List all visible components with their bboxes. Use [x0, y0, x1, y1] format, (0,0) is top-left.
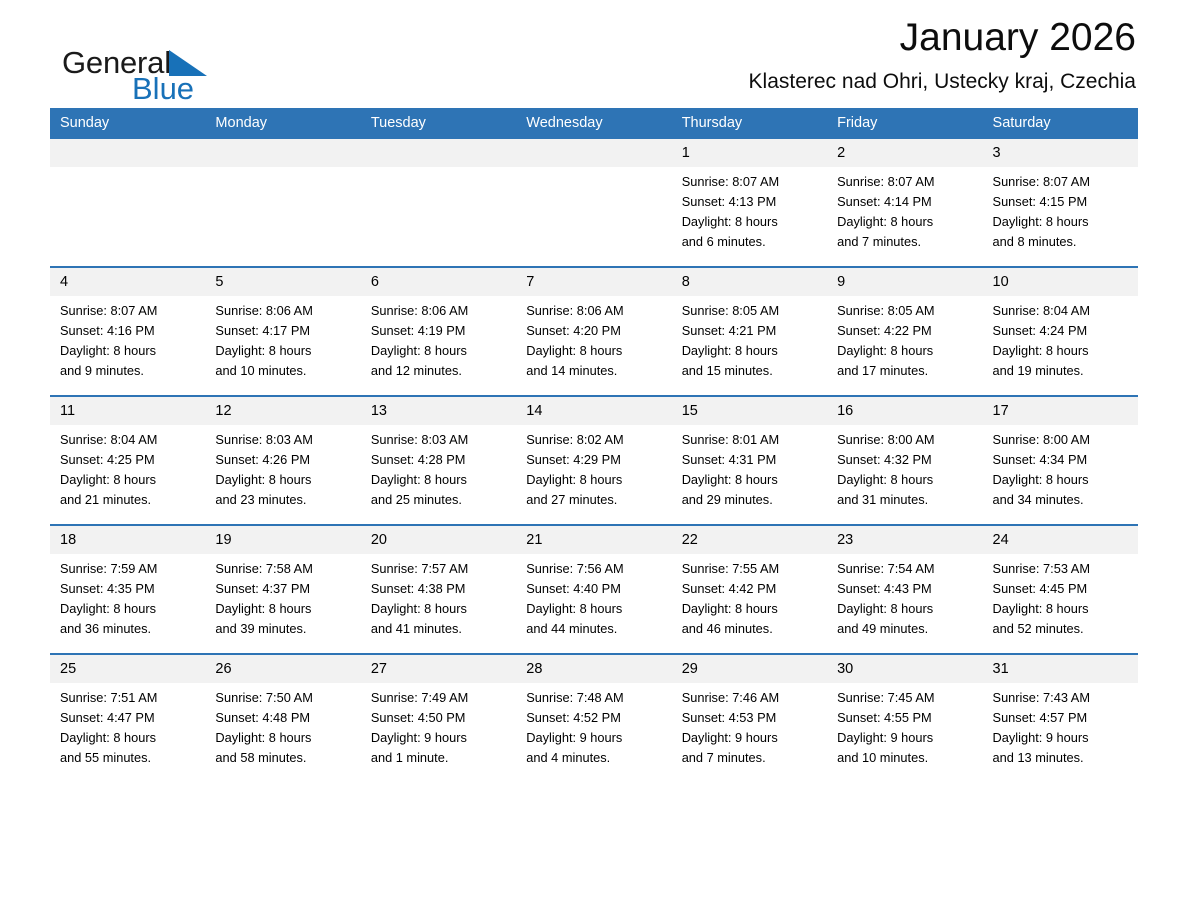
day-cell[interactable]: 27Sunrise: 7:49 AMSunset: 4:50 PMDayligh…	[361, 654, 516, 773]
sunset-line: Sunset: 4:40 PM	[526, 579, 663, 599]
day-number: 15	[672, 397, 827, 425]
day-number: 23	[827, 526, 982, 554]
day-sun-info: Sunrise: 7:59 AMSunset: 4:35 PMDaylight:…	[50, 554, 205, 639]
sunset-line: Sunset: 4:57 PM	[993, 708, 1130, 728]
sunset-line: Sunset: 4:13 PM	[682, 192, 819, 212]
day-cell[interactable]: 19Sunrise: 7:58 AMSunset: 4:37 PMDayligh…	[205, 525, 360, 644]
daylight-line-1: Daylight: 8 hours	[526, 599, 663, 619]
day-sun-info: Sunrise: 8:06 AMSunset: 4:19 PMDaylight:…	[361, 296, 516, 381]
daylight-line-2: and 25 minutes.	[371, 490, 508, 510]
day-cell[interactable]: 30Sunrise: 7:45 AMSunset: 4:55 PMDayligh…	[827, 654, 982, 773]
day-cell[interactable]: 23Sunrise: 7:54 AMSunset: 4:43 PMDayligh…	[827, 525, 982, 644]
sunset-line: Sunset: 4:26 PM	[215, 450, 352, 470]
daylight-line-2: and 15 minutes.	[682, 361, 819, 381]
daylight-line-2: and 46 minutes.	[682, 619, 819, 639]
daylight-line-2: and 21 minutes.	[60, 490, 197, 510]
day-cell[interactable]: 25Sunrise: 7:51 AMSunset: 4:47 PMDayligh…	[50, 654, 205, 773]
daylight-line-1: Daylight: 8 hours	[993, 212, 1130, 232]
sunrise-line: Sunrise: 8:00 AM	[993, 430, 1130, 450]
daylight-line-1: Daylight: 8 hours	[215, 599, 352, 619]
daylight-line-1: Daylight: 8 hours	[371, 470, 508, 490]
calendar-week-row: 25Sunrise: 7:51 AMSunset: 4:47 PMDayligh…	[50, 654, 1138, 773]
sunrise-line: Sunrise: 8:05 AM	[837, 301, 974, 321]
sunrise-line: Sunrise: 8:07 AM	[60, 301, 197, 321]
day-sun-info: Sunrise: 8:03 AMSunset: 4:28 PMDaylight:…	[361, 425, 516, 510]
daylight-line-2: and 39 minutes.	[215, 619, 352, 639]
sunrise-line: Sunrise: 8:07 AM	[993, 172, 1130, 192]
daylight-line-1: Daylight: 8 hours	[215, 470, 352, 490]
sunrise-line: Sunrise: 7:48 AM	[526, 688, 663, 708]
day-cell[interactable]: 11Sunrise: 8:04 AMSunset: 4:25 PMDayligh…	[50, 396, 205, 515]
sunset-line: Sunset: 4:14 PM	[837, 192, 974, 212]
sunset-line: Sunset: 4:52 PM	[526, 708, 663, 728]
daylight-line-1: Daylight: 9 hours	[837, 728, 974, 748]
sunset-line: Sunset: 4:28 PM	[371, 450, 508, 470]
sunset-line: Sunset: 4:43 PM	[837, 579, 974, 599]
sunrise-line: Sunrise: 7:56 AM	[526, 559, 663, 579]
day-sun-info: Sunrise: 8:06 AMSunset: 4:20 PMDaylight:…	[516, 296, 671, 381]
day-number: 6	[361, 268, 516, 296]
column-header-friday: Friday	[827, 108, 982, 139]
sunrise-line: Sunrise: 8:02 AM	[526, 430, 663, 450]
sunrise-line: Sunrise: 7:55 AM	[682, 559, 819, 579]
daylight-line-1: Daylight: 9 hours	[526, 728, 663, 748]
daylight-line-1: Daylight: 8 hours	[682, 212, 819, 232]
day-number: 17	[983, 397, 1138, 425]
daylight-line-2: and 14 minutes.	[526, 361, 663, 381]
day-sun-info: Sunrise: 7:54 AMSunset: 4:43 PMDaylight:…	[827, 554, 982, 639]
day-number: 14	[516, 397, 671, 425]
daylight-line-2: and 34 minutes.	[993, 490, 1130, 510]
column-header-thursday: Thursday	[672, 108, 827, 139]
sunrise-line: Sunrise: 8:03 AM	[215, 430, 352, 450]
sunset-line: Sunset: 4:22 PM	[837, 321, 974, 341]
day-number: 30	[827, 655, 982, 683]
sunrise-line: Sunrise: 7:43 AM	[993, 688, 1130, 708]
daylight-line-2: and 6 minutes.	[682, 232, 819, 252]
sunset-line: Sunset: 4:24 PM	[993, 321, 1130, 341]
daylight-line-2: and 4 minutes.	[526, 748, 663, 768]
daylight-line-1: Daylight: 8 hours	[682, 470, 819, 490]
day-sun-info: Sunrise: 8:04 AMSunset: 4:25 PMDaylight:…	[50, 425, 205, 510]
sunset-line: Sunset: 4:34 PM	[993, 450, 1130, 470]
sunset-line: Sunset: 4:35 PM	[60, 579, 197, 599]
logo-blue-text: Blue	[132, 74, 322, 104]
page-header: General Blue January 2026 Klasterec nad …	[50, 0, 1138, 108]
sunrise-line: Sunrise: 8:05 AM	[682, 301, 819, 321]
day-sun-info: Sunrise: 8:04 AMSunset: 4:24 PMDaylight:…	[983, 296, 1138, 381]
daylight-line-1: Daylight: 9 hours	[993, 728, 1130, 748]
sunrise-line: Sunrise: 7:57 AM	[371, 559, 508, 579]
day-cell[interactable]: 2Sunrise: 8:07 AMSunset: 4:14 PMDaylight…	[827, 139, 982, 257]
day-cell[interactable]: 8Sunrise: 8:05 AMSunset: 4:21 PMDaylight…	[672, 267, 827, 386]
daylight-line-2: and 44 minutes.	[526, 619, 663, 639]
day-cell[interactable]: 14Sunrise: 8:02 AMSunset: 4:29 PMDayligh…	[516, 396, 671, 515]
day-sun-info: Sunrise: 8:05 AMSunset: 4:21 PMDaylight:…	[672, 296, 827, 381]
day-sun-info: Sunrise: 8:06 AMSunset: 4:17 PMDaylight:…	[205, 296, 360, 381]
sunrise-line: Sunrise: 8:06 AM	[526, 301, 663, 321]
day-cell[interactable]: 6Sunrise: 8:06 AMSunset: 4:19 PMDaylight…	[361, 267, 516, 386]
sunrise-line: Sunrise: 8:00 AM	[837, 430, 974, 450]
day-cell[interactable]: 28Sunrise: 7:48 AMSunset: 4:52 PMDayligh…	[516, 654, 671, 773]
day-cell[interactable]: 29Sunrise: 7:46 AMSunset: 4:53 PMDayligh…	[672, 654, 827, 773]
daylight-line-2: and 58 minutes.	[215, 748, 352, 768]
day-sun-info: Sunrise: 8:05 AMSunset: 4:22 PMDaylight:…	[827, 296, 982, 381]
day-cell[interactable]: 17Sunrise: 8:00 AMSunset: 4:34 PMDayligh…	[983, 396, 1138, 515]
calendar-week-row: 11Sunrise: 8:04 AMSunset: 4:25 PMDayligh…	[50, 396, 1138, 515]
day-cell[interactable]: 18Sunrise: 7:59 AMSunset: 4:35 PMDayligh…	[50, 525, 205, 644]
daylight-line-1: Daylight: 8 hours	[993, 599, 1130, 619]
sunset-line: Sunset: 4:32 PM	[837, 450, 974, 470]
sunrise-line: Sunrise: 7:46 AM	[682, 688, 819, 708]
day-number: 12	[205, 397, 360, 425]
daylight-line-1: Daylight: 8 hours	[682, 341, 819, 361]
sunrise-line: Sunrise: 7:58 AM	[215, 559, 352, 579]
sunset-line: Sunset: 4:21 PM	[682, 321, 819, 341]
day-cell[interactable]: 9Sunrise: 8:05 AMSunset: 4:22 PMDaylight…	[827, 267, 982, 386]
daylight-line-2: and 19 minutes.	[993, 361, 1130, 381]
sunrise-sunset-calendar: Sunday Monday Tuesday Wednesday Thursday…	[50, 108, 1138, 773]
day-sun-info: Sunrise: 7:55 AMSunset: 4:42 PMDaylight:…	[672, 554, 827, 639]
daylight-line-2: and 9 minutes.	[60, 361, 197, 381]
day-number: 18	[50, 526, 205, 554]
sunrise-line: Sunrise: 7:45 AM	[837, 688, 974, 708]
day-sun-info: Sunrise: 8:03 AMSunset: 4:26 PMDaylight:…	[205, 425, 360, 510]
day-number: 1	[672, 139, 827, 167]
day-number: 3	[983, 139, 1138, 167]
day-sun-info: Sunrise: 8:02 AMSunset: 4:29 PMDaylight:…	[516, 425, 671, 510]
day-number: 26	[205, 655, 360, 683]
calendar-week-row: 4Sunrise: 8:07 AMSunset: 4:16 PMDaylight…	[50, 267, 1138, 386]
daylight-line-1: Daylight: 8 hours	[371, 341, 508, 361]
day-sun-info: Sunrise: 8:07 AMSunset: 4:16 PMDaylight:…	[50, 296, 205, 381]
sunset-line: Sunset: 4:20 PM	[526, 321, 663, 341]
daylight-line-1: Daylight: 9 hours	[371, 728, 508, 748]
daylight-line-2: and 27 minutes.	[526, 490, 663, 510]
sunset-line: Sunset: 4:48 PM	[215, 708, 352, 728]
day-cell-empty	[516, 139, 671, 257]
day-cell[interactable]: 21Sunrise: 7:56 AMSunset: 4:40 PMDayligh…	[516, 525, 671, 644]
day-cell[interactable]: 5Sunrise: 8:06 AMSunset: 4:17 PMDaylight…	[205, 267, 360, 386]
sunset-line: Sunset: 4:29 PM	[526, 450, 663, 470]
day-cell[interactable]: 12Sunrise: 8:03 AMSunset: 4:26 PMDayligh…	[205, 396, 360, 515]
sunrise-line: Sunrise: 8:07 AM	[682, 172, 819, 192]
week-spacer-row	[50, 386, 1138, 396]
day-sun-info: Sunrise: 8:07 AMSunset: 4:14 PMDaylight:…	[827, 167, 982, 252]
daylight-line-2: and 36 minutes.	[60, 619, 197, 639]
daylight-line-1: Daylight: 8 hours	[526, 470, 663, 490]
day-sun-info: Sunrise: 7:43 AMSunset: 4:57 PMDaylight:…	[983, 683, 1138, 768]
day-cell-empty	[361, 139, 516, 257]
generalblue-logo: General Blue	[62, 46, 322, 124]
day-sun-info: Sunrise: 8:00 AMSunset: 4:32 PMDaylight:…	[827, 425, 982, 510]
day-number: 11	[50, 397, 205, 425]
day-number: 20	[361, 526, 516, 554]
sunset-line: Sunset: 4:55 PM	[837, 708, 974, 728]
day-sun-info: Sunrise: 7:49 AMSunset: 4:50 PMDaylight:…	[361, 683, 516, 768]
daylight-line-1: Daylight: 8 hours	[993, 470, 1130, 490]
sunrise-line: Sunrise: 8:03 AM	[371, 430, 508, 450]
daylight-line-2: and 31 minutes.	[837, 490, 974, 510]
daylight-line-1: Daylight: 8 hours	[215, 341, 352, 361]
sunrise-line: Sunrise: 8:04 AM	[60, 430, 197, 450]
day-cell[interactable]: 16Sunrise: 8:00 AMSunset: 4:32 PMDayligh…	[827, 396, 982, 515]
daylight-line-1: Daylight: 8 hours	[993, 341, 1130, 361]
day-number: 2	[827, 139, 982, 167]
sunset-line: Sunset: 4:19 PM	[371, 321, 508, 341]
day-cell[interactable]: 20Sunrise: 7:57 AMSunset: 4:38 PMDayligh…	[361, 525, 516, 644]
daylight-line-1: Daylight: 8 hours	[60, 728, 197, 748]
day-cell[interactable]: 26Sunrise: 7:50 AMSunset: 4:48 PMDayligh…	[205, 654, 360, 773]
column-header-tuesday: Tuesday	[361, 108, 516, 139]
calendar-body: 1Sunrise: 8:07 AMSunset: 4:13 PMDaylight…	[50, 139, 1138, 773]
day-cell[interactable]: 13Sunrise: 8:03 AMSunset: 4:28 PMDayligh…	[361, 396, 516, 515]
daylight-line-1: Daylight: 8 hours	[837, 599, 974, 619]
day-number: 10	[983, 268, 1138, 296]
sunset-line: Sunset: 4:17 PM	[215, 321, 352, 341]
daylight-line-2: and 41 minutes.	[371, 619, 508, 639]
day-number	[361, 139, 516, 167]
day-number	[205, 139, 360, 167]
day-cell[interactable]: 7Sunrise: 8:06 AMSunset: 4:20 PMDaylight…	[516, 267, 671, 386]
week-spacer	[50, 386, 1138, 396]
daylight-line-2: and 8 minutes.	[993, 232, 1130, 252]
day-number: 5	[205, 268, 360, 296]
day-sun-info: Sunrise: 7:48 AMSunset: 4:52 PMDaylight:…	[516, 683, 671, 768]
daylight-line-2: and 13 minutes.	[993, 748, 1130, 768]
day-cell-empty	[205, 139, 360, 257]
day-number: 28	[516, 655, 671, 683]
day-number: 13	[361, 397, 516, 425]
day-sun-info: Sunrise: 7:53 AMSunset: 4:45 PMDaylight:…	[983, 554, 1138, 639]
sunrise-line: Sunrise: 8:01 AM	[682, 430, 819, 450]
day-number: 21	[516, 526, 671, 554]
day-cell[interactable]: 1Sunrise: 8:07 AMSunset: 4:13 PMDaylight…	[672, 139, 827, 257]
day-number	[516, 139, 671, 167]
sunset-line: Sunset: 4:37 PM	[215, 579, 352, 599]
sunrise-line: Sunrise: 7:53 AM	[993, 559, 1130, 579]
column-header-saturday: Saturday	[983, 108, 1138, 139]
day-cell-empty	[50, 139, 205, 257]
daylight-line-1: Daylight: 8 hours	[60, 341, 197, 361]
day-number: 27	[361, 655, 516, 683]
sunrise-line: Sunrise: 8:06 AM	[371, 301, 508, 321]
day-number: 25	[50, 655, 205, 683]
sunset-line: Sunset: 4:53 PM	[682, 708, 819, 728]
day-cell[interactable]: 4Sunrise: 8:07 AMSunset: 4:16 PMDaylight…	[50, 267, 205, 386]
column-header-wednesday: Wednesday	[516, 108, 671, 139]
daylight-line-1: Daylight: 8 hours	[60, 470, 197, 490]
day-number: 29	[672, 655, 827, 683]
day-sun-info: Sunrise: 8:01 AMSunset: 4:31 PMDaylight:…	[672, 425, 827, 510]
day-number: 7	[516, 268, 671, 296]
week-spacer-row	[50, 257, 1138, 267]
day-number: 24	[983, 526, 1138, 554]
daylight-line-2: and 17 minutes.	[837, 361, 974, 381]
sunset-line: Sunset: 4:38 PM	[371, 579, 508, 599]
sunset-line: Sunset: 4:15 PM	[993, 192, 1130, 212]
day-sun-info: Sunrise: 7:46 AMSunset: 4:53 PMDaylight:…	[672, 683, 827, 768]
daylight-line-2: and 7 minutes.	[682, 748, 819, 768]
sunset-line: Sunset: 4:16 PM	[60, 321, 197, 341]
calendar-week-row: 1Sunrise: 8:07 AMSunset: 4:13 PMDaylight…	[50, 139, 1138, 257]
daylight-line-2: and 7 minutes.	[837, 232, 974, 252]
sunset-line: Sunset: 4:31 PM	[682, 450, 819, 470]
day-number: 16	[827, 397, 982, 425]
sunset-line: Sunset: 4:45 PM	[993, 579, 1130, 599]
day-sun-info: Sunrise: 7:51 AMSunset: 4:47 PMDaylight:…	[50, 683, 205, 768]
sunrise-line: Sunrise: 8:07 AM	[837, 172, 974, 192]
daylight-line-2: and 1 minute.	[371, 748, 508, 768]
day-cell[interactable]: 15Sunrise: 8:01 AMSunset: 4:31 PMDayligh…	[672, 396, 827, 515]
daylight-line-1: Daylight: 8 hours	[60, 599, 197, 619]
day-number: 8	[672, 268, 827, 296]
day-cell[interactable]: 3Sunrise: 8:07 AMSunset: 4:15 PMDaylight…	[983, 139, 1138, 257]
daylight-line-1: Daylight: 8 hours	[371, 599, 508, 619]
day-number	[50, 139, 205, 167]
daylight-line-2: and 23 minutes.	[215, 490, 352, 510]
week-spacer	[50, 644, 1138, 654]
day-number: 19	[205, 526, 360, 554]
sunrise-line: Sunrise: 7:50 AM	[215, 688, 352, 708]
sunrise-line: Sunrise: 7:59 AM	[60, 559, 197, 579]
sunset-line: Sunset: 4:25 PM	[60, 450, 197, 470]
day-number: 4	[50, 268, 205, 296]
daylight-line-1: Daylight: 8 hours	[837, 341, 974, 361]
daylight-line-2: and 49 minutes.	[837, 619, 974, 639]
sunrise-line: Sunrise: 7:49 AM	[371, 688, 508, 708]
day-cell[interactable]: 31Sunrise: 7:43 AMSunset: 4:57 PMDayligh…	[983, 654, 1138, 773]
calendar-page: General Blue January 2026 Klasterec nad …	[0, 0, 1188, 918]
sunset-line: Sunset: 4:50 PM	[371, 708, 508, 728]
daylight-line-2: and 52 minutes.	[993, 619, 1130, 639]
day-cell[interactable]: 24Sunrise: 7:53 AMSunset: 4:45 PMDayligh…	[983, 525, 1138, 644]
sunset-line: Sunset: 4:47 PM	[60, 708, 197, 728]
week-spacer	[50, 515, 1138, 525]
sunset-line: Sunset: 4:42 PM	[682, 579, 819, 599]
day-number: 22	[672, 526, 827, 554]
day-sun-info: Sunrise: 7:50 AMSunset: 4:48 PMDaylight:…	[205, 683, 360, 768]
sunrise-line: Sunrise: 8:06 AM	[215, 301, 352, 321]
day-sun-info: Sunrise: 7:57 AMSunset: 4:38 PMDaylight:…	[361, 554, 516, 639]
daylight-line-2: and 55 minutes.	[60, 748, 197, 768]
sunrise-line: Sunrise: 7:51 AM	[60, 688, 197, 708]
day-sun-info: Sunrise: 8:07 AMSunset: 4:13 PMDaylight:…	[672, 167, 827, 252]
day-sun-info: Sunrise: 7:56 AMSunset: 4:40 PMDaylight:…	[516, 554, 671, 639]
week-spacer-row	[50, 515, 1138, 525]
daylight-line-1: Daylight: 9 hours	[682, 728, 819, 748]
day-number: 9	[827, 268, 982, 296]
day-cell[interactable]: 10Sunrise: 8:04 AMSunset: 4:24 PMDayligh…	[983, 267, 1138, 386]
calendar-week-row: 18Sunrise: 7:59 AMSunset: 4:35 PMDayligh…	[50, 525, 1138, 644]
daylight-line-1: Daylight: 8 hours	[526, 341, 663, 361]
day-cell[interactable]: 22Sunrise: 7:55 AMSunset: 4:42 PMDayligh…	[672, 525, 827, 644]
day-sun-info: Sunrise: 7:45 AMSunset: 4:55 PMDaylight:…	[827, 683, 982, 768]
daylight-line-2: and 10 minutes.	[215, 361, 352, 381]
daylight-line-1: Daylight: 8 hours	[837, 212, 974, 232]
sunrise-line: Sunrise: 7:54 AM	[837, 559, 974, 579]
week-spacer	[50, 257, 1138, 267]
day-sun-info: Sunrise: 8:07 AMSunset: 4:15 PMDaylight:…	[983, 167, 1138, 252]
week-spacer-row	[50, 644, 1138, 654]
daylight-line-2: and 12 minutes.	[371, 361, 508, 381]
daylight-line-1: Daylight: 8 hours	[682, 599, 819, 619]
day-number: 31	[983, 655, 1138, 683]
day-sun-info: Sunrise: 8:00 AMSunset: 4:34 PMDaylight:…	[983, 425, 1138, 510]
sunrise-line: Sunrise: 8:04 AM	[993, 301, 1130, 321]
daylight-line-1: Daylight: 8 hours	[837, 470, 974, 490]
day-sun-info: Sunrise: 7:58 AMSunset: 4:37 PMDaylight:…	[205, 554, 360, 639]
daylight-line-1: Daylight: 8 hours	[215, 728, 352, 748]
daylight-line-2: and 29 minutes.	[682, 490, 819, 510]
daylight-line-2: and 10 minutes.	[837, 748, 974, 768]
